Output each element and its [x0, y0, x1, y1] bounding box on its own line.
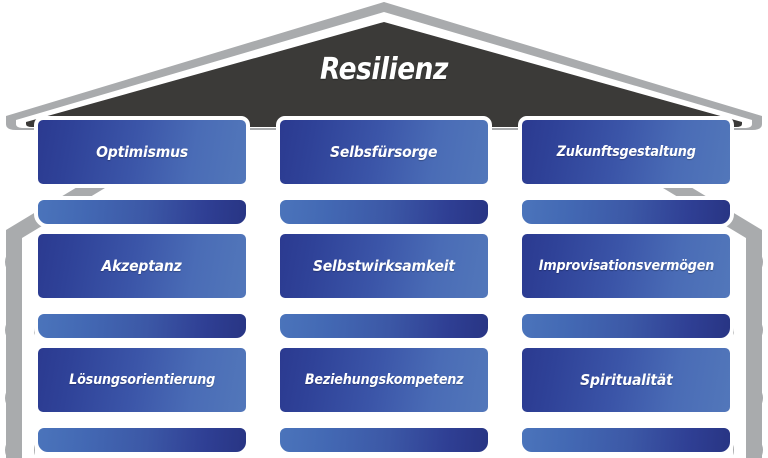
pillar-label: Akzeptanz — [102, 257, 182, 275]
pillar-spiritualitaet[interactable]: Spiritualität — [518, 344, 734, 416]
slab-block — [34, 424, 250, 456]
pillar-label: Zukunftsgestaltung — [557, 144, 696, 160]
slab-row-2 — [34, 306, 734, 344]
pillar-optimismus[interactable]: Optimismus — [34, 116, 250, 188]
slab-block — [518, 424, 734, 456]
slab-block — [518, 310, 734, 342]
slab-block — [276, 424, 492, 456]
pillar-selbstwirksamkeit[interactable]: Selbstwirksamkeit — [276, 230, 492, 302]
pillar-row-1: Optimismus Selbsfürsorge Zukunftsgestalt… — [34, 116, 734, 230]
resilience-house-diagram: Resilienz Optimismus Selbsfürsorge Zukun… — [0, 0, 768, 458]
slab-block — [34, 196, 250, 228]
pillar-selbsfuersorge[interactable]: Selbsfürsorge — [276, 116, 492, 188]
pillar-label: Selbstwirksamkeit — [313, 257, 455, 275]
slab-block — [276, 310, 492, 342]
pillar-row-2: Akzeptanz Selbstwirksamkeit Improvisatio… — [34, 230, 734, 344]
pillar-label: Lösungsorientierung — [69, 372, 215, 388]
pillar-label: Spiritualität — [580, 371, 672, 389]
slab-block — [34, 310, 250, 342]
slab-row-3 — [34, 420, 734, 454]
slab-block — [276, 196, 492, 228]
pillar-row-3: Lösungsorientierung Beziehungskompetenz … — [34, 344, 734, 458]
pillar-beziehungskompetenz[interactable]: Beziehungskompetenz — [276, 344, 492, 416]
house-wall: Optimismus Selbsfürsorge Zukunftsgestalt… — [34, 116, 734, 458]
roof-title: Resilienz — [46, 52, 722, 87]
pillar-loesungsorientierung[interactable]: Lösungsorientierung — [34, 344, 250, 416]
pillar-improvisationsvermoegen[interactable]: Improvisationsvermögen — [518, 230, 734, 302]
slab-row-1 — [34, 192, 734, 230]
pillar-label: Beziehungskompetenz — [305, 372, 464, 388]
pillar-label: Improvisationsvermögen — [538, 258, 713, 274]
pillar-label: Optimismus — [96, 143, 188, 161]
pillar-zukunftsgestaltung[interactable]: Zukunftsgestaltung — [518, 116, 734, 188]
pillar-label: Selbsfürsorge — [330, 143, 437, 161]
brick-row-1: Optimismus Selbsfürsorge Zukunftsgestalt… — [34, 116, 734, 192]
brick-row-3: Lösungsorientierung Beziehungskompetenz … — [34, 344, 734, 420]
pillar-akzeptanz[interactable]: Akzeptanz — [34, 230, 250, 302]
slab-block — [518, 196, 734, 228]
brick-row-2: Akzeptanz Selbstwirksamkeit Improvisatio… — [34, 230, 734, 306]
